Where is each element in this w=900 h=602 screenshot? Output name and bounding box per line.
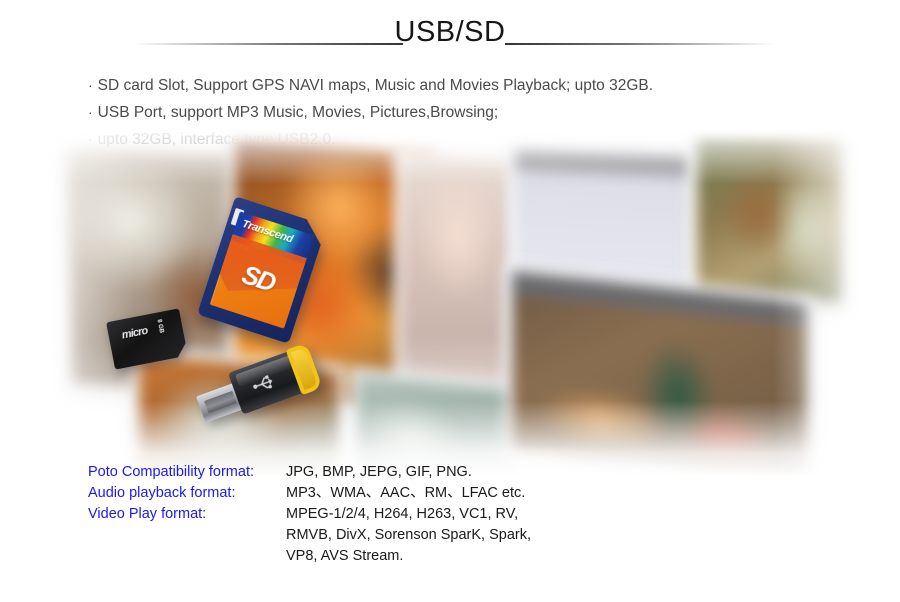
format-value-line: VP8, AVS Stream. <box>286 546 531 567</box>
bullet-dot-icon: · <box>88 77 93 93</box>
format-value-line: JPG, BMP, JEPG, GIF, PNG. <box>286 462 472 483</box>
feature-item-text: SD card Slot, Support GPS NAVI maps, Mus… <box>98 77 653 94</box>
page-title: USB/SD <box>0 12 900 52</box>
title-bar: USB/SD <box>0 12 900 56</box>
format-value: MP3、WMA、AAC、RM、LFAC etc. <box>286 483 525 504</box>
device-group: Transcend LOCK SD micro 8 GB <box>0 130 900 475</box>
format-value: JPG, BMP, JEPG, GIF, PNG. <box>286 462 472 483</box>
format-row: Poto Compatibility format: JPG, BMP, JEP… <box>88 462 608 483</box>
usb-flash-drive-image <box>191 338 330 433</box>
microsd-card-body <box>106 308 188 369</box>
sd-card-image: Transcend LOCK SD <box>197 196 327 344</box>
usb-sd-feature-page: USB/SD ·SD card Slot, Support GPS NAVI m… <box>0 0 900 602</box>
format-value: MPEG-1/2/4, H264, H263, VC1, RV, RMVB, D… <box>286 504 531 567</box>
format-row: Video Play format: MPEG-1/2/4, H264, H26… <box>88 504 608 567</box>
format-spec-table: Poto Compatibility format: JPG, BMP, JEP… <box>88 462 608 567</box>
bullet-dot-icon: · <box>88 104 93 120</box>
feature-item: ·SD card Slot, Support GPS NAVI maps, Mu… <box>88 72 878 99</box>
format-label: Audio playback format: <box>88 483 286 504</box>
format-row: Audio playback format: MP3、WMA、AAC、RM、LF… <box>88 483 608 504</box>
format-value-line: MP3、WMA、AAC、RM、LFAC etc. <box>286 483 525 504</box>
format-value-line: MPEG-1/2/4, H264, H263, VC1, RV, <box>286 504 531 525</box>
microsd-card-image: micro 8 GB <box>106 308 188 369</box>
format-label: Poto Compatibility format: <box>88 462 286 483</box>
feature-item-text: USB Port, support MP3 Music, Movies, Pic… <box>98 104 499 121</box>
feature-item: ·USB Port, support MP3 Music, Movies, Pi… <box>88 99 878 126</box>
format-label: Video Play format: <box>88 504 286 525</box>
format-value-line: RMVB, DivX, Sorenson SparK, Spark, <box>286 525 531 546</box>
